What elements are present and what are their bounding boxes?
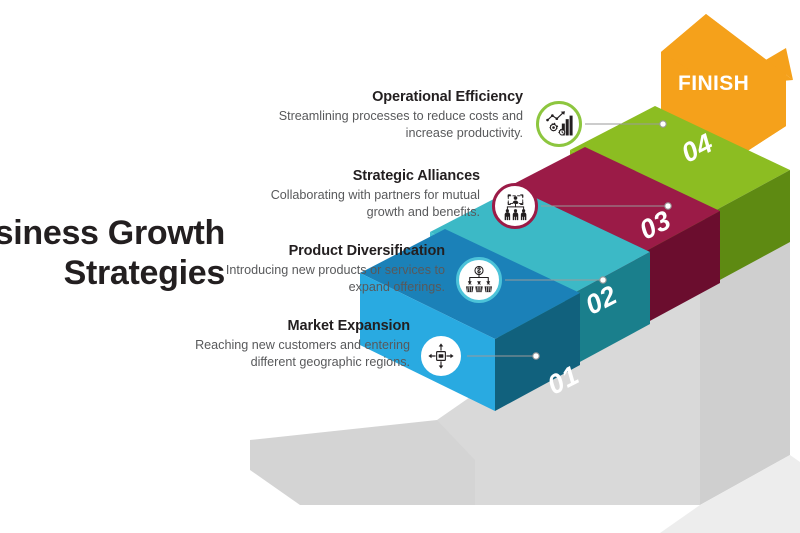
step-text-market-expansion: Market Expansion Reaching new customers … xyxy=(150,318,410,371)
money-baskets-icon xyxy=(464,265,494,295)
step-text-operational-efficiency: Operational Efficiency Streamlining proc… xyxy=(260,89,523,142)
step-description-03: Collaborating with partners for mutual g… xyxy=(225,187,480,221)
expand-arrows-icon xyxy=(427,342,455,370)
step-description-01: Reaching new customers and entering diff… xyxy=(150,337,410,371)
finish-label: FINISH xyxy=(678,72,749,96)
step-description-02: Introducing new products or services to … xyxy=(190,262,445,296)
step-text-product-diversification: Product Diversification Introducing new … xyxy=(190,243,445,296)
infographic-canvas: Business Growth Strategies FINISH 01 02 … xyxy=(0,0,800,533)
step-text-strategic-alliances: Strategic Alliances Collaborating with p… xyxy=(225,168,480,221)
gears-growth-chart-icon xyxy=(544,109,574,139)
step-icon-badge-02[interactable] xyxy=(456,257,502,303)
step-icon-badge-01[interactable] xyxy=(418,333,464,379)
step-title-02: Product Diversification xyxy=(190,243,445,259)
step-title-03: Strategic Alliances xyxy=(225,168,480,184)
team-partners-icon xyxy=(501,192,530,221)
step-description-04: Streamlining processes to reduce costs a… xyxy=(260,108,523,142)
step-icon-badge-03[interactable] xyxy=(492,183,538,229)
step-title-04: Operational Efficiency xyxy=(260,89,523,105)
step-icon-badge-04[interactable] xyxy=(536,101,582,147)
step-title-01: Market Expansion xyxy=(150,318,410,334)
